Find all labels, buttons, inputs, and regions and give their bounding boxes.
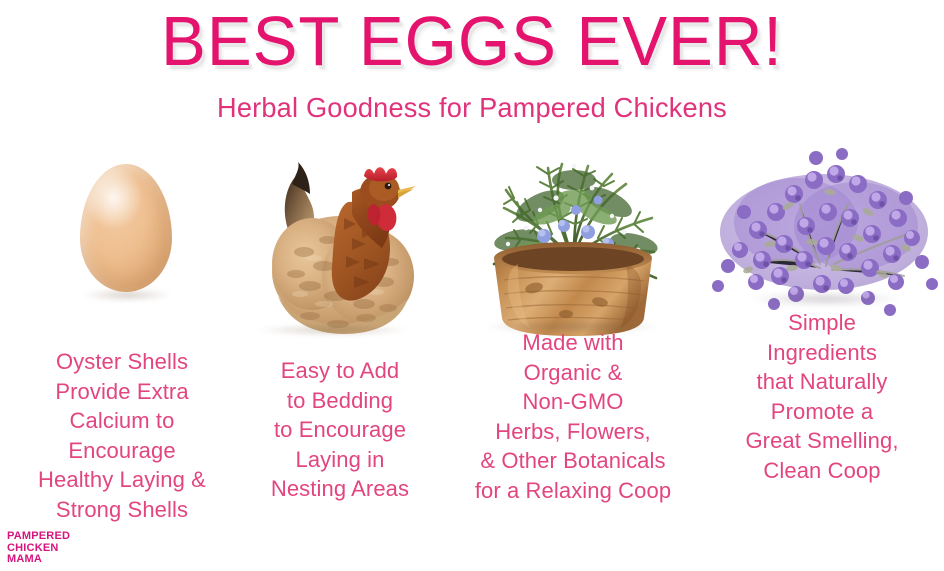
caption-easy-to-add: Easy to Add to Bedding to Encourage Layi… — [240, 356, 440, 504]
hen-drop-shadow — [258, 324, 408, 336]
caption-line: that Naturally — [700, 367, 944, 397]
infographic-poster: BEST EGGS EVER! Herbal Goodness for Pamp… — [0, 0, 944, 571]
caption-line: Laying in — [240, 445, 440, 475]
logo-line: PAMPERED — [7, 531, 70, 543]
caption-line: Healthy Laying & — [2, 465, 242, 495]
brown-egg-image — [2, 158, 242, 338]
page-subtitle: Herbal Goodness for Pampered Chickens — [14, 91, 930, 125]
egg-shape — [80, 164, 172, 292]
feature-column-oyster-shells: Oyster Shells Provide Extra Calcium to E… — [2, 140, 242, 540]
feature-column-simple-ingredients: Simple Ingredients that Naturally Promot… — [700, 140, 944, 540]
caption-line: Non-GMO — [448, 387, 698, 417]
lavender-drop-shadow — [750, 292, 900, 306]
caption-line: Calcium to — [2, 406, 242, 436]
lavender-bunch-image — [700, 134, 944, 319]
feature-column-organic-herbs: Made with Organic & Non-GMO Herbs, Flowe… — [448, 140, 698, 540]
caption-line: Easy to Add — [240, 356, 440, 386]
logo-line: MAMA — [7, 554, 70, 566]
caption-line: to Bedding — [240, 386, 440, 416]
caption-line: Herbs, Flowers, — [448, 417, 698, 447]
caption-line: for a Relaxing Coop — [448, 476, 698, 506]
caption-organic-herbs: Made with Organic & Non-GMO Herbs, Flowe… — [448, 328, 698, 505]
caption-line: Great Smelling, — [700, 426, 944, 456]
brand-logo[interactable]: PAMPERED CHICKEN MAMA — [7, 531, 70, 566]
caption-simple-ingredients: Simple Ingredients that Naturally Promot… — [700, 308, 944, 485]
caption-line: Promote a — [700, 397, 944, 427]
herb-planter-image — [448, 140, 698, 340]
feature-column-easy-to-add: Easy to Add to Bedding to Encourage Layi… — [240, 140, 440, 540]
page-title: BEST EGGS EVER! — [19, 2, 925, 80]
caption-line: Ingredients — [700, 338, 944, 368]
caption-line: & Other Botanicals — [448, 446, 698, 476]
brown-hen-image — [240, 144, 440, 340]
caption-line: Nesting Areas — [240, 474, 440, 504]
caption-line: Simple — [700, 308, 944, 338]
caption-line: Provide Extra — [2, 377, 242, 407]
caption-line: Strong Shells — [2, 495, 242, 525]
caption-line: Oyster Shells — [2, 347, 242, 377]
hen-illustration — [240, 144, 440, 340]
caption-line: Clean Coop — [700, 456, 944, 486]
caption-oyster-shells: Oyster Shells Provide Extra Calcium to E… — [2, 347, 242, 524]
caption-line: Made with — [448, 328, 698, 358]
caption-line: Encourage — [2, 436, 242, 466]
caption-line: to Encourage — [240, 415, 440, 445]
caption-line: Organic & — [448, 358, 698, 388]
planter-illustration — [448, 140, 698, 340]
